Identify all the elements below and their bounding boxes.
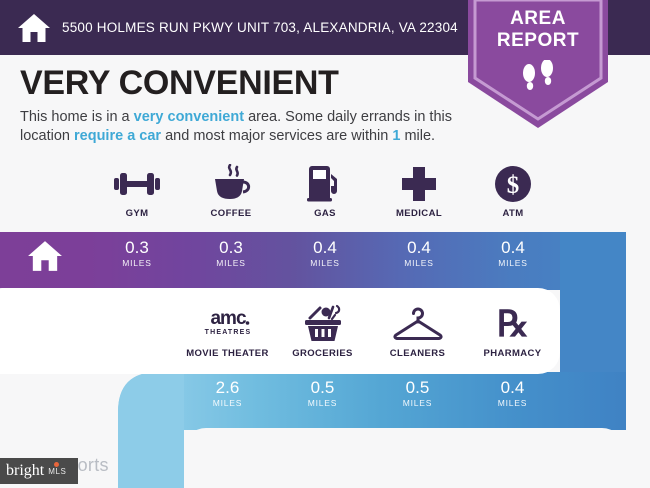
svg-text:$: $ — [507, 172, 520, 199]
dumbbell-icon — [114, 163, 160, 205]
badge-label: AREA REPORT — [464, 8, 612, 52]
distances-row-1: 0.3 MILES 0.3 MILES 0.4 MILES 0.4 MILES … — [90, 238, 560, 284]
category-movie-theater[interactable]: amc THEATRES MOVIE THEATER — [180, 303, 275, 369]
category-atm[interactable]: $ ATM — [466, 163, 560, 229]
distance-gym: 0.3 MILES — [90, 238, 184, 284]
distances-row-2: 2.6 MILES 0.5 MILES 0.5 MILES 0.4 MILES — [180, 378, 560, 424]
grocery-basket-icon — [302, 303, 344, 345]
gas-pump-icon — [306, 163, 344, 205]
distance-value: 0.5 — [370, 378, 465, 398]
distance-gas: 0.4 MILES — [278, 238, 372, 284]
category-gym[interactable]: GYM — [90, 163, 184, 229]
distance-unit: MILES — [278, 258, 372, 268]
bright-logo-dot-icon — [54, 462, 59, 467]
distance-value: 0.3 — [184, 238, 278, 258]
clothes-hanger-icon — [393, 303, 443, 345]
badge-line-1: AREA — [464, 8, 612, 30]
category-icons-row-2: amc THEATRES MOVIE THEATER — [180, 303, 560, 369]
amc-theatres-logo-icon: amc THEATRES — [198, 303, 258, 345]
footprints-icon — [518, 60, 560, 99]
distance-unit: MILES — [180, 398, 275, 408]
distance-value: 0.4 — [466, 238, 560, 258]
medical-cross-icon — [400, 163, 438, 205]
distance-unit: MILES — [275, 398, 370, 408]
category-label: ATM — [502, 208, 523, 219]
distance-unit: MILES — [372, 258, 466, 268]
category-label: MOVIE THEATER — [186, 348, 269, 359]
distance-groceries: 0.5 MILES — [275, 378, 370, 424]
distance-atm: 0.4 MILES — [466, 238, 560, 284]
distance-unit: MILES — [184, 258, 278, 268]
bright-logo-word: bright — [6, 463, 44, 479]
svg-text:℞: ℞ — [496, 304, 528, 344]
dollar-circle-icon: $ — [494, 163, 532, 205]
distance-pharmacy: 0.4 MILES — [465, 378, 560, 424]
bright-mls-logo[interactable]: bright MLS — [0, 458, 78, 484]
distance-value: 0.4 — [278, 238, 372, 258]
distance-cleaners: 0.5 MILES — [370, 378, 465, 424]
distance-medical: 0.4 MILES — [372, 238, 466, 284]
category-label: GYM — [126, 208, 149, 219]
category-label: COFFEE — [211, 208, 252, 219]
category-coffee[interactable]: COFFEE — [184, 163, 278, 229]
distance-value: 0.4 — [465, 378, 560, 398]
distance-unit: MILES — [90, 258, 184, 268]
category-label: PHARMACY — [483, 348, 541, 359]
category-label: MEDICAL — [396, 208, 442, 219]
distance-value: 2.6 — [180, 378, 275, 398]
distance-value: 0.4 — [372, 238, 466, 258]
distance-movie-theater: 2.6 MILES — [180, 378, 275, 424]
svg-text:amc: amc — [210, 308, 246, 329]
distance-unit: MILES — [465, 398, 560, 408]
distance-coffee: 0.3 MILES — [184, 238, 278, 284]
area-report-badge: AREA REPORT — [464, 0, 612, 136]
coffee-cup-icon — [210, 163, 252, 205]
distance-unit: MILES — [370, 398, 465, 408]
bright-logo-suffix: MLS — [48, 467, 66, 476]
distance-unit: MILES — [466, 258, 560, 268]
category-label: CLEANERS — [390, 348, 445, 359]
category-label: GROCERIES — [292, 348, 353, 359]
svg-text:THEATRES: THEATRES — [204, 329, 251, 336]
category-pharmacy[interactable]: ℞ PHARMACY — [465, 303, 560, 369]
category-medical[interactable]: MEDICAL — [372, 163, 466, 229]
category-icons-row-1: GYM COFFEE GAS — [90, 163, 560, 229]
badge-line-2: REPORT — [464, 30, 612, 52]
distance-value: 0.5 — [275, 378, 370, 398]
distance-value: 0.3 — [90, 238, 184, 258]
area-report-page: 5500 HOLMES RUN PKWY UNIT 703, ALEXANDRI… — [0, 0, 650, 488]
ribbon-home-icon — [27, 240, 63, 277]
rx-icon: ℞ — [493, 303, 533, 345]
category-gas[interactable]: GAS — [278, 163, 372, 229]
category-label: GAS — [314, 208, 336, 219]
category-groceries[interactable]: GROCERIES — [275, 303, 370, 369]
category-cleaners[interactable]: CLEANERS — [370, 303, 465, 369]
